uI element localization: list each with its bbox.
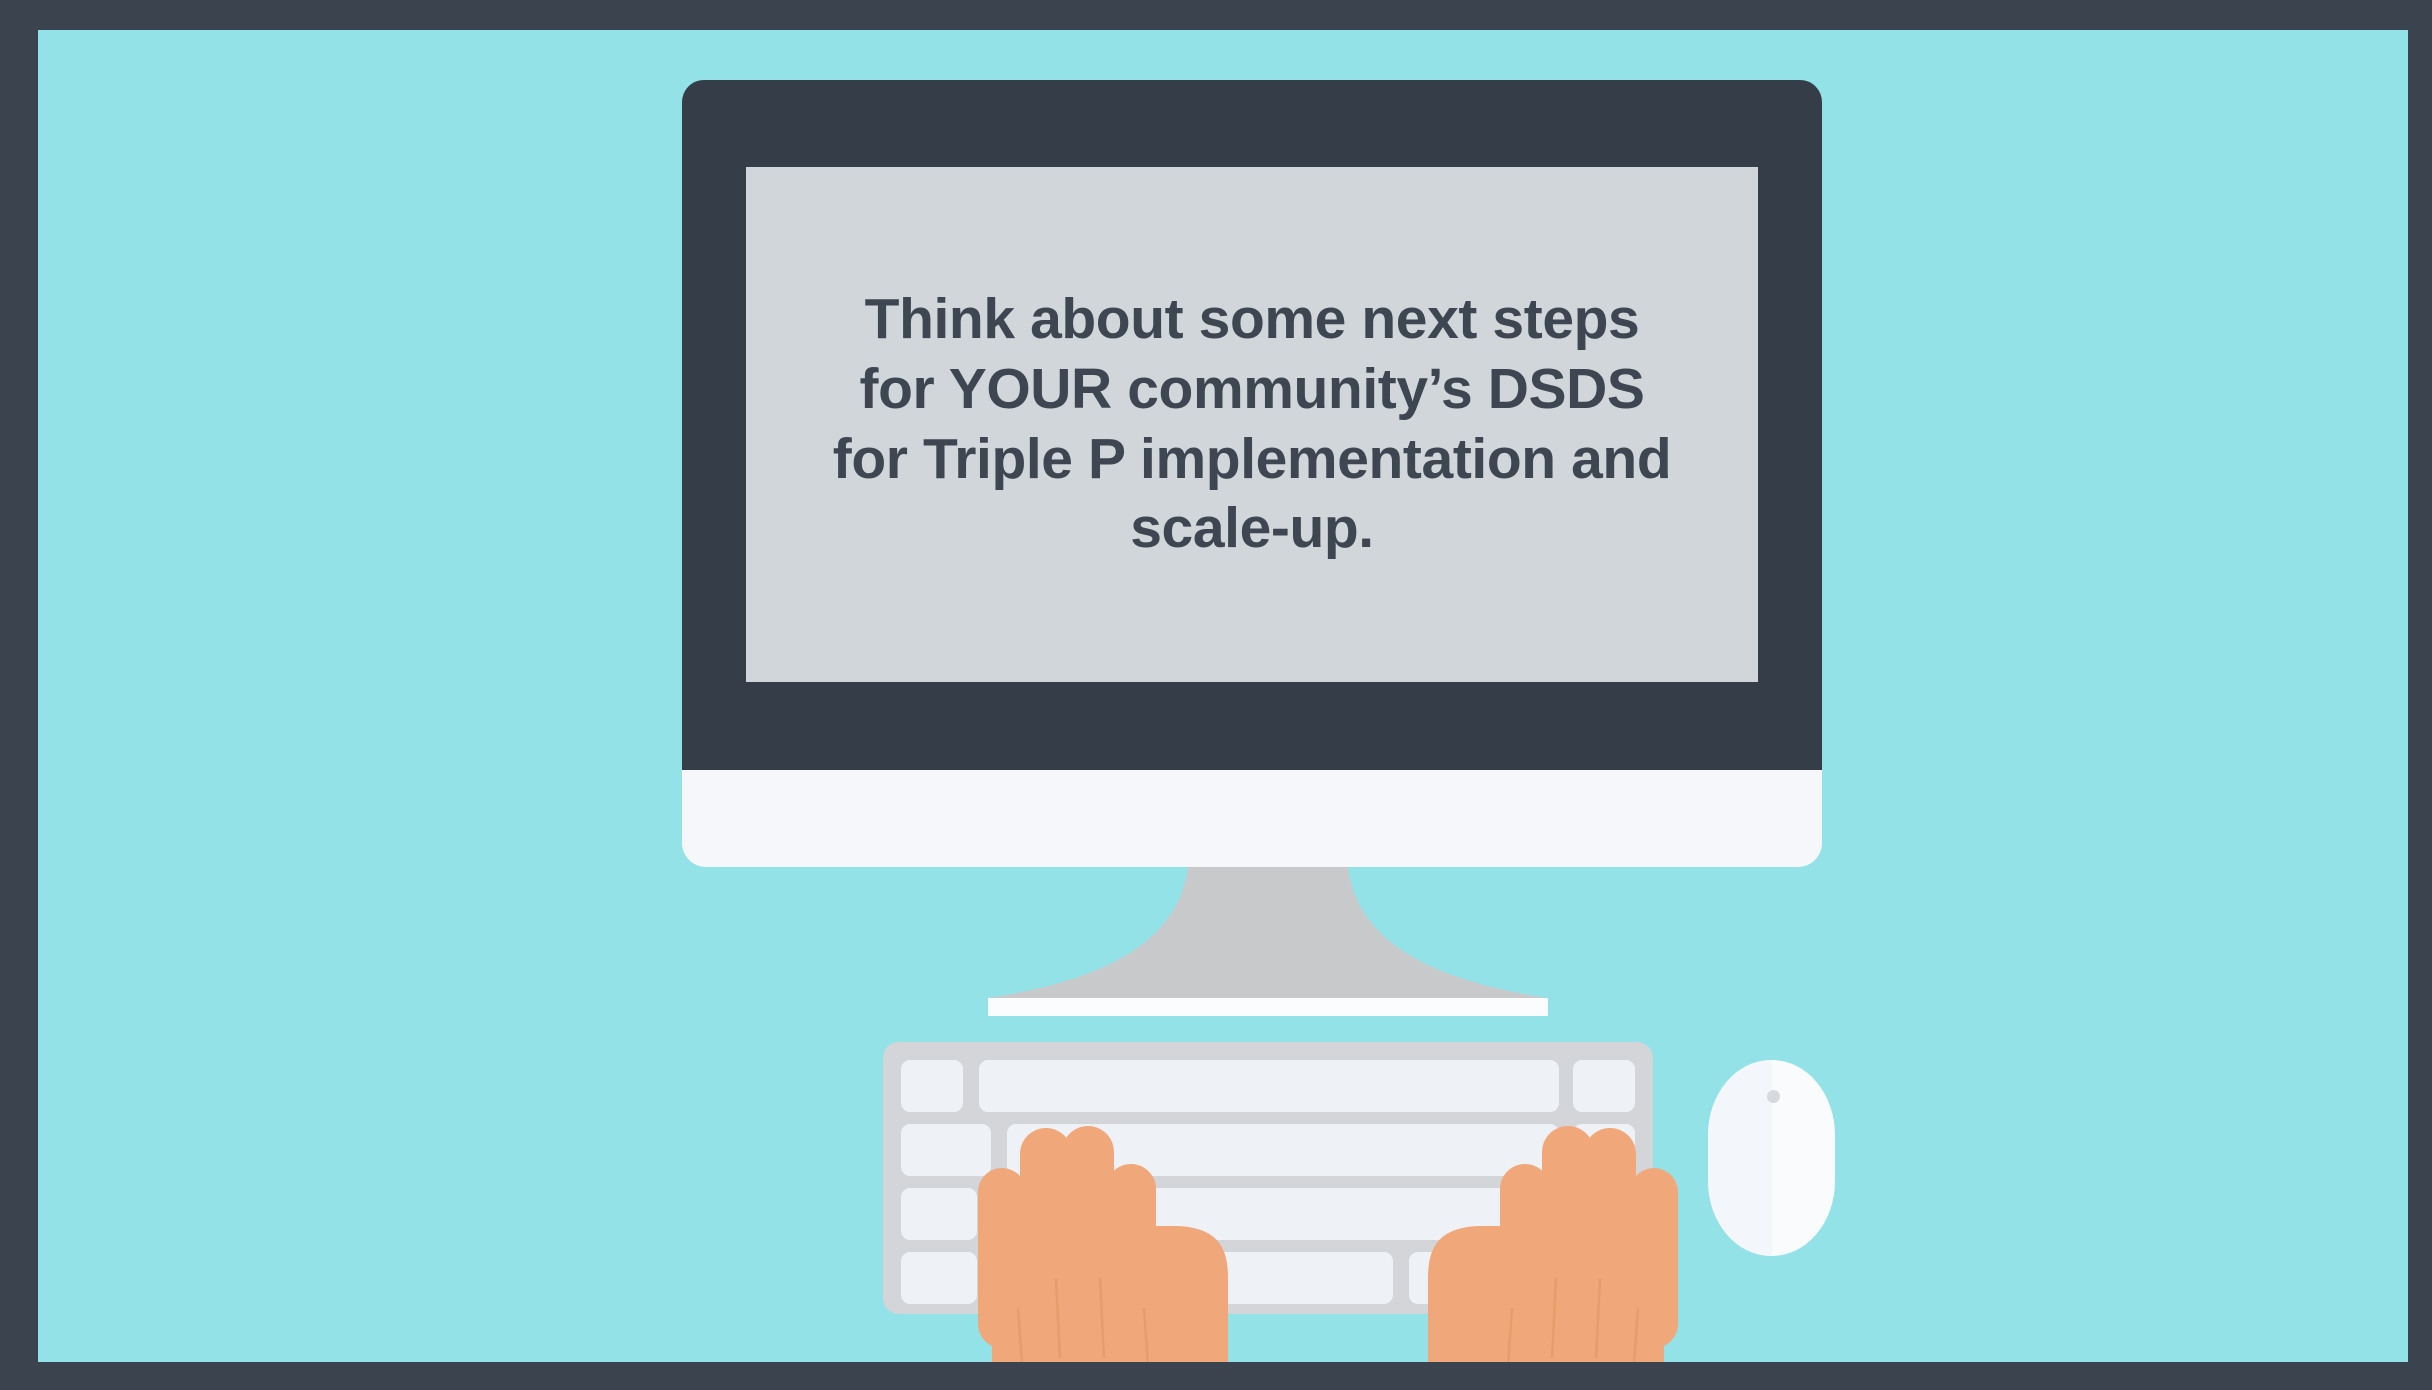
- keyboard-key[interactable]: [901, 1188, 977, 1240]
- keyboard-row: [883, 1060, 1653, 1112]
- keyboard-key[interactable]: [901, 1060, 963, 1112]
- monitor-stand: [988, 867, 1548, 1002]
- keyboard-key[interactable]: [979, 1060, 1559, 1112]
- monitor-screen: Think about some next steps for YOUR com…: [746, 167, 1758, 682]
- screen-message-text: Think about some next steps for YOUR com…: [822, 285, 1682, 563]
- monitor-stand-base: [988, 998, 1548, 1016]
- mouse-scroll-sensor-icon: [1767, 1090, 1780, 1103]
- mouse-left-button[interactable]: [1708, 1060, 1772, 1256]
- keyboard-key[interactable]: [901, 1252, 977, 1304]
- computer-monitor: Think about some next steps for YOUR com…: [682, 80, 1822, 770]
- slide-canvas: Think about some next steps for YOUR com…: [38, 30, 2408, 1362]
- slide-frame: Think about some next steps for YOUR com…: [0, 0, 2432, 1390]
- computer-mouse[interactable]: [1708, 1060, 1835, 1256]
- keyboard-key[interactable]: [1573, 1060, 1635, 1112]
- right-hand-typing: [1348, 1108, 1678, 1362]
- monitor-chin: [682, 770, 1822, 867]
- left-hand-typing: [978, 1108, 1308, 1362]
